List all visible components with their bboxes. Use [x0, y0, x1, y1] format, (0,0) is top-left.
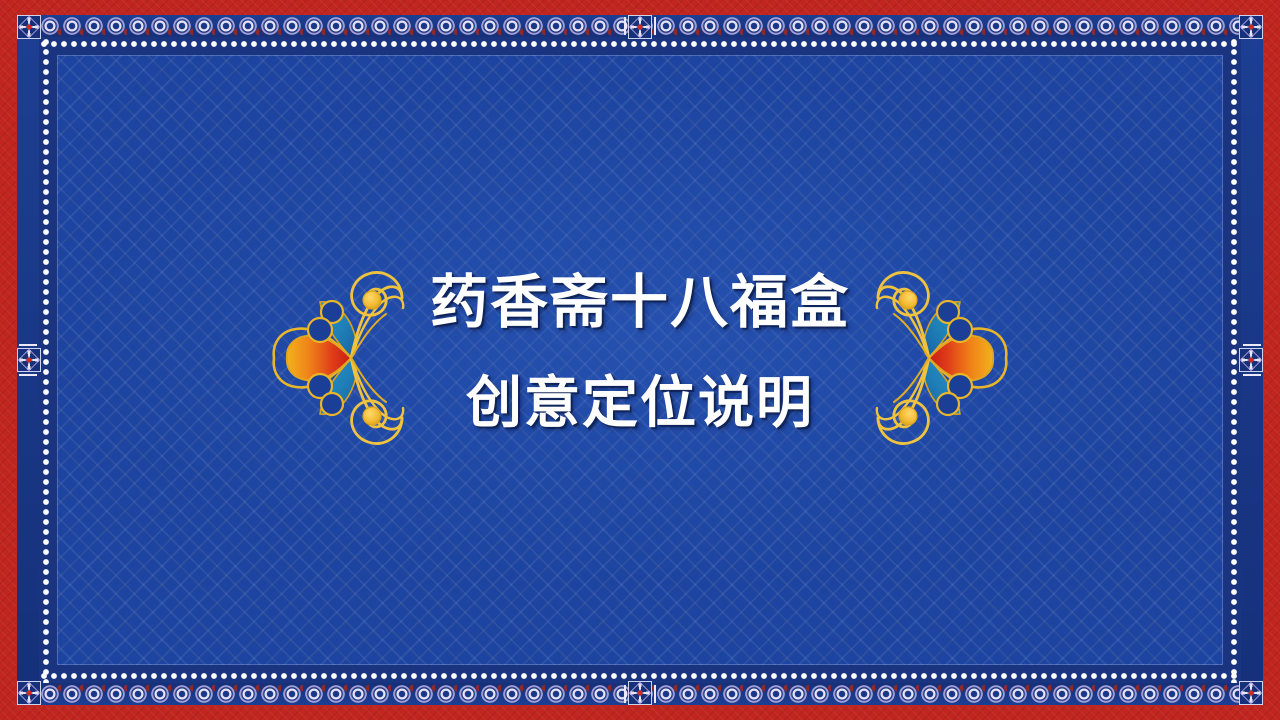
medallion-separator-bar	[19, 344, 37, 346]
dot-line-left	[41, 37, 51, 683]
mid-medallion-right	[1239, 348, 1263, 372]
ornament-bead	[321, 393, 343, 415]
medallion-separator-bar	[654, 17, 656, 35]
inner-background-field	[57, 55, 1223, 665]
ornament-spiral-dot-upper	[899, 291, 917, 309]
dot-line-top	[39, 39, 1241, 49]
mid-medallion-left	[17, 348, 41, 372]
medallion-separator-bar	[1243, 344, 1261, 346]
medallion-separator-bar	[624, 685, 626, 703]
ornament-spiral-dot-lower	[363, 407, 381, 425]
mid-medallion-bottom	[628, 681, 652, 705]
medallion-separator-bar	[1243, 374, 1261, 376]
ruyi-cloud-scroll-ornament-right	[875, 240, 1030, 475]
title-slide: 药香斋十八福盒 创意定位说明	[0, 0, 1280, 720]
ornament-spiral-dot-lower	[899, 407, 917, 425]
corner-medallion-top-right	[1239, 15, 1263, 39]
corner-medallion-bottom-left	[17, 681, 41, 705]
ornament-bead	[937, 393, 959, 415]
dot-line-bottom	[39, 671, 1241, 681]
medallion-separator-bar	[19, 374, 37, 376]
medallion-separator-bar	[624, 17, 626, 35]
corner-medallion-top-left	[17, 15, 41, 39]
ornament-spiral-dot-upper	[363, 291, 381, 309]
mid-medallion-top	[628, 15, 652, 39]
ornament-bead	[948, 318, 972, 342]
corner-medallion-bottom-right	[1239, 681, 1263, 705]
ruyi-cloud-scroll-ornament-left	[250, 240, 405, 475]
medallion-separator-bar	[654, 685, 656, 703]
dot-line-right	[1229, 37, 1239, 683]
ornament-bead	[308, 318, 332, 342]
